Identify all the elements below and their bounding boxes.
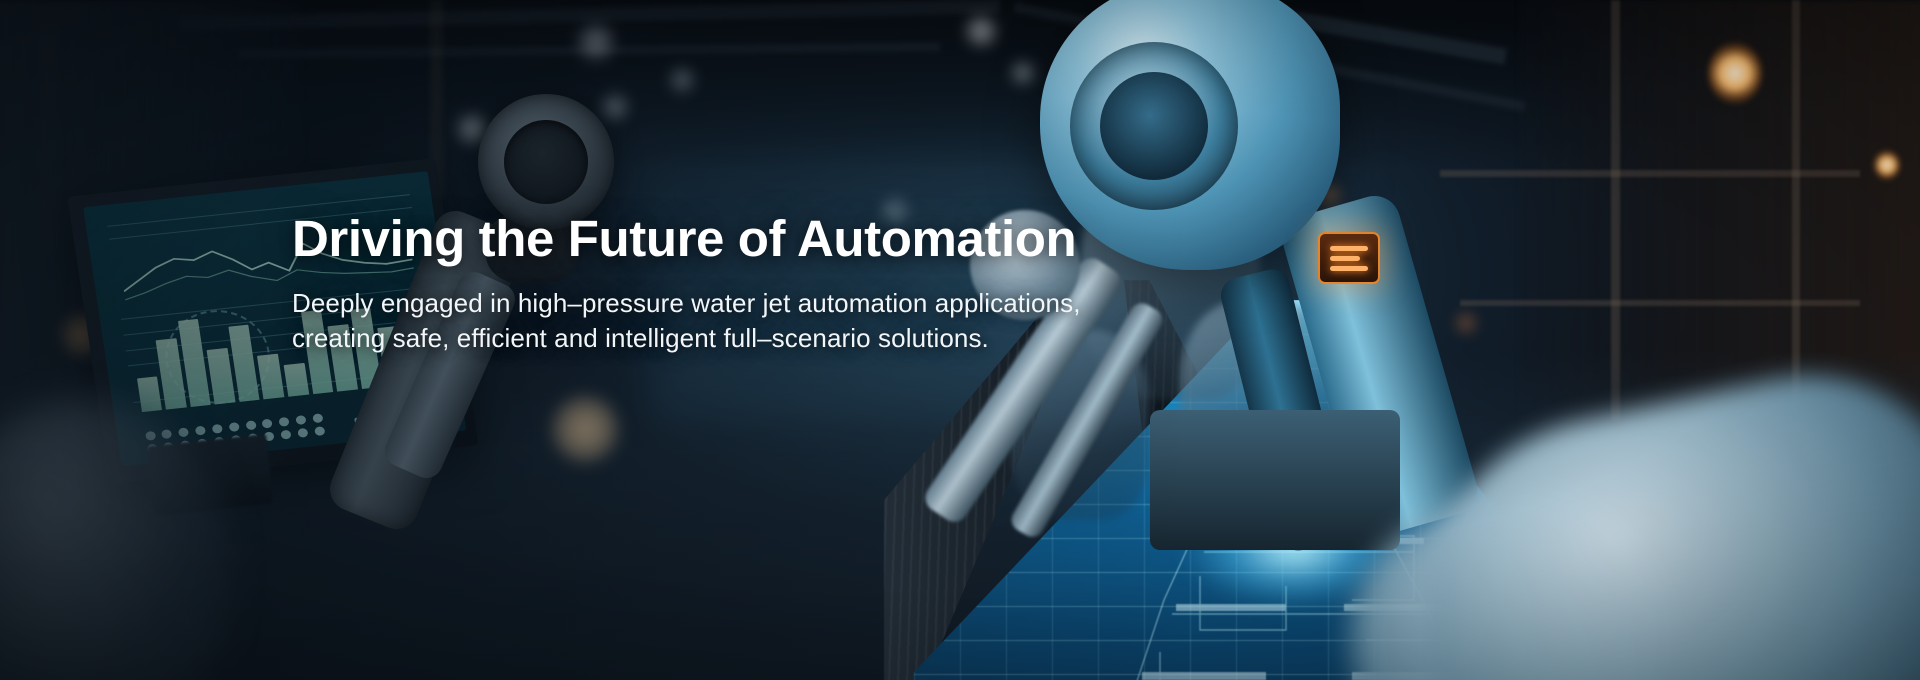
hero-banner: Driving the Future of Automation Deeply …: [0, 0, 1920, 680]
hud-dot: [262, 418, 273, 428]
hud-dot: [228, 422, 239, 432]
ceiling-lamp: [1874, 150, 1900, 180]
hud-dot: [195, 425, 206, 435]
hud-bar: [257, 354, 284, 399]
hero-subtitle: Deeply engaged in high–pressure water je…: [292, 286, 1192, 357]
hero-subtitle-line-1: Deeply engaged in high–pressure water je…: [292, 286, 1192, 321]
hud-dot: [278, 416, 289, 426]
window-mullion: [1460, 300, 1860, 306]
page-title: Driving the Future of Automation: [292, 212, 1492, 266]
hero-content: Driving the Future of Automation Deeply …: [292, 0, 1492, 680]
hud-dot: [280, 429, 291, 439]
hud-dot: [245, 420, 256, 430]
hud-bar: [207, 348, 236, 404]
window-mullion: [1440, 170, 1860, 177]
ceiling-lamp: [1708, 42, 1762, 104]
hero-subtitle-line-2: creating safe, efficient and intelligent…: [292, 321, 1192, 356]
hud-bar: [137, 376, 162, 412]
hud-dot: [212, 423, 223, 433]
